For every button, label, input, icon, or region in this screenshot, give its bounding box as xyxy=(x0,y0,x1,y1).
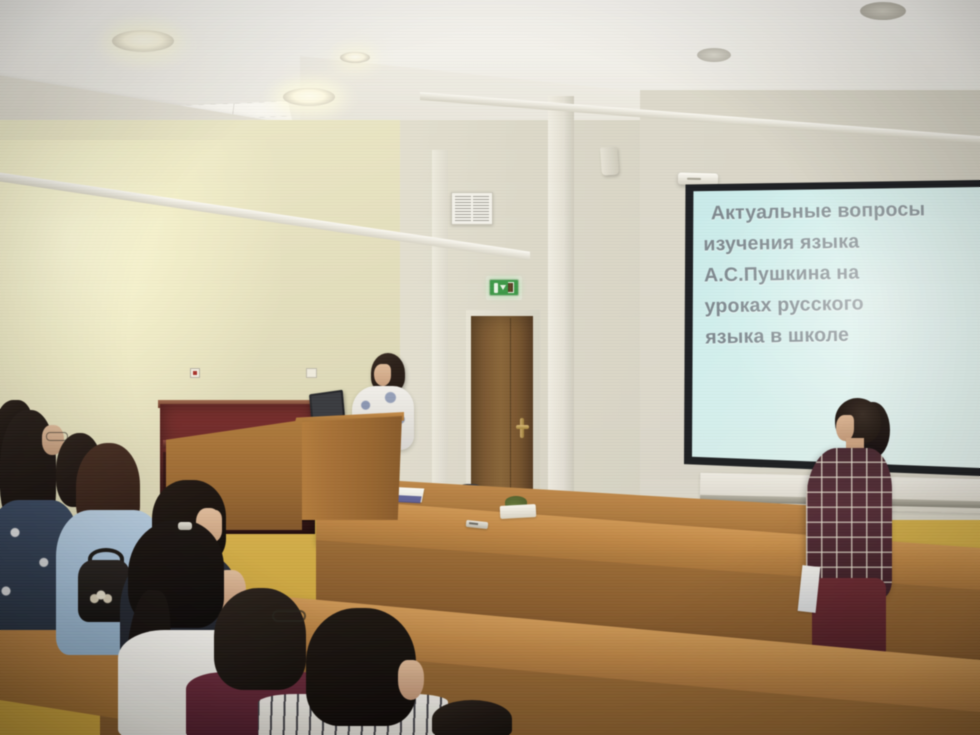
slide-line: языка в школе xyxy=(705,317,968,353)
projector-screen-housing[interactable] xyxy=(678,172,718,185)
audience-member-face xyxy=(398,660,424,700)
wall-corner-column xyxy=(548,96,574,526)
slide-line: уроках русского xyxy=(704,286,967,322)
glasses-icon xyxy=(272,610,306,622)
ceiling-downlight xyxy=(112,30,174,52)
door-handle[interactable] xyxy=(516,425,529,429)
wall-switch-red[interactable] xyxy=(190,368,200,378)
slide-line: Актуальные вопросы xyxy=(703,193,966,229)
slide-line: изучения языка xyxy=(703,224,966,260)
exit-arrow-glyph xyxy=(500,285,506,290)
notice-column xyxy=(473,196,489,221)
ceiling-downlight xyxy=(697,48,731,62)
audience-member-hair xyxy=(432,700,512,735)
wall-speaker-icon xyxy=(600,146,619,175)
power-strip[interactable] xyxy=(500,504,537,519)
slide-line: А.С.Пушкина на xyxy=(704,255,967,291)
audience-member-hair xyxy=(214,588,306,690)
lecture-hall-photograph: Актуальные вопросы изучения языка А.С.Пу… xyxy=(0,0,980,735)
handbag-ornament xyxy=(90,586,112,604)
presenter-face xyxy=(374,364,391,386)
wall-switch[interactable] xyxy=(306,368,317,378)
standing-woman-skirt xyxy=(812,578,886,656)
wall-notice-board xyxy=(451,192,493,225)
ceiling-downlight xyxy=(860,2,906,20)
lectern xyxy=(296,416,402,520)
notice-column xyxy=(455,196,471,221)
slide-text: Актуальные вопросы изучения языка А.С.Пу… xyxy=(703,193,968,353)
door-seam xyxy=(510,318,511,508)
exit-door-glyph xyxy=(508,282,514,293)
emergency-exit-sign-icon xyxy=(489,279,519,296)
hair-clip xyxy=(178,522,192,530)
ceiling-downlight xyxy=(283,88,335,106)
ceiling-downlight xyxy=(340,52,370,63)
exit-figure-glyph xyxy=(494,283,498,293)
